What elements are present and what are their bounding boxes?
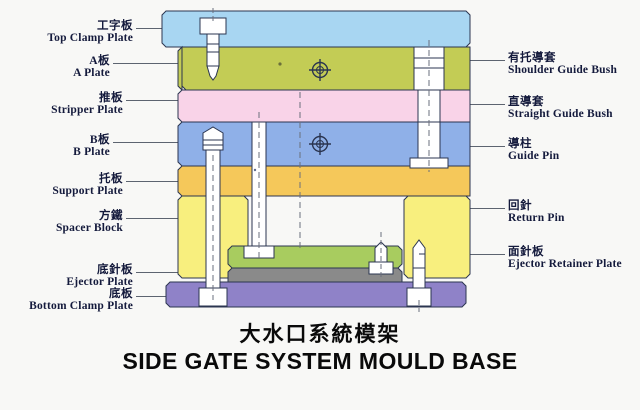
registration-mark (254, 169, 256, 171)
title-chinese: 大水口系統模架 (0, 318, 640, 348)
registration-mark (278, 62, 281, 65)
a-plate-left-notch (178, 47, 182, 90)
return-pin-right-shank (413, 268, 425, 290)
title-block: 大水口系統模架 SIDE GATE SYSTEM MOULD BASE (0, 318, 640, 375)
mould-base-diagram: 工字板 Top Clamp Plate A板 A Plate 推板 Stripp… (0, 0, 640, 410)
title-english: SIDE GATE SYSTEM MOULD BASE (0, 348, 640, 375)
support-plate-shape (178, 166, 470, 196)
top-cap-screw-shank (207, 34, 219, 66)
